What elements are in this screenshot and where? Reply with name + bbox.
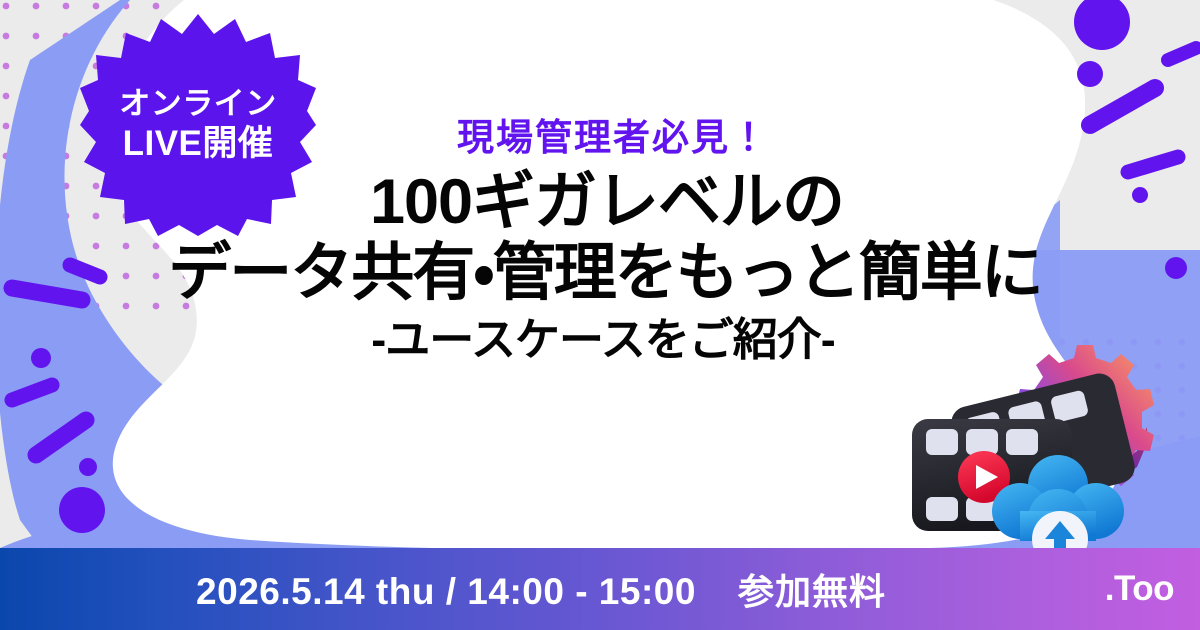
event-datetime: 2026.5.14 thu / 14:00 - 15:00 — [196, 571, 696, 613]
illustration-cluster — [900, 325, 1200, 565]
headline-line-1: 100ギガレベルの — [14, 170, 1200, 236]
price-label: 参加無料 — [738, 563, 886, 615]
badge-line-1: オンライン — [119, 87, 277, 122]
headline-line-2: データ共有・管理をもっと簡単に — [10, 241, 1200, 307]
webinar-banner: オンライン LIVE開催 現場管理者必見！ 100ギガレベルの データ共有・管理… — [0, 0, 1200, 630]
too-logo: .Too — [1105, 569, 1174, 609]
footer-bar: 2026.5.14 thu / 14:00 - 15:00 参加無料 .Too — [0, 548, 1200, 630]
footer-content: 2026.5.14 thu / 14:00 - 15:00 参加無料 — [0, 563, 1200, 615]
eyebrow-text: 現場管理者必見！ — [26, 118, 1200, 159]
